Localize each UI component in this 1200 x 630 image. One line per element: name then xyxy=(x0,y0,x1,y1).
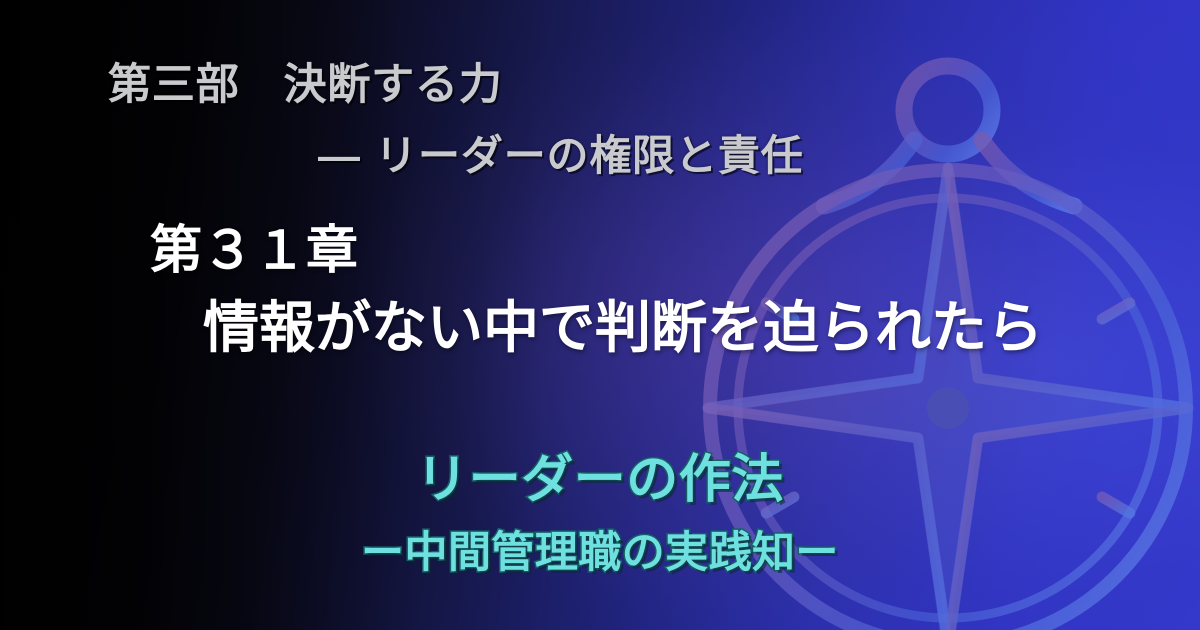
title-card: 第三部 決断する力 —リーダーの権限と責任 第３１章 情報がない中で判断を迫られ… xyxy=(0,0,1200,630)
part-heading-line-1: 第三部 決断する力 xyxy=(108,63,503,108)
chapter-number: 第３１章 xyxy=(150,208,358,283)
part-heading-line-2: —リーダーの権限と責任 xyxy=(318,134,804,178)
chapter-title: 情報がない中で判断を迫られたら xyxy=(203,283,1043,364)
part-heading-line-2-text: リーダーの権限と責任 xyxy=(375,132,803,179)
brand-title: リーダーの作法 xyxy=(0,437,1200,512)
brand-subtitle: ー中間管理職の実践知ー xyxy=(0,518,1200,580)
text-content: 第三部 決断する力 —リーダーの権限と責任 第３１章 情報がない中で判断を迫られ… xyxy=(0,0,1200,630)
em-dash-separator: — xyxy=(318,132,375,179)
